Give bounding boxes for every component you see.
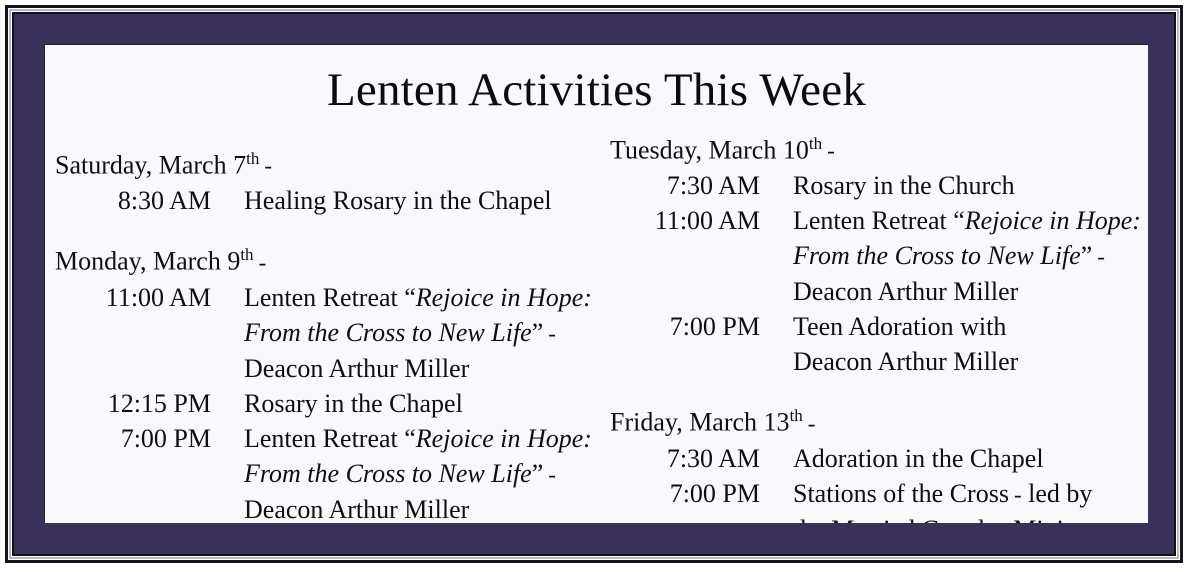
event-text: Deacon Arthur Miller — [793, 277, 1018, 306]
event-description-line: Deacon Arthur Miller — [244, 492, 592, 523]
event-text: ” — [532, 459, 544, 488]
event-description-line: Rosary in the Chapel — [244, 386, 463, 421]
event-description-line: Stations of the Cross- led by — [793, 476, 1103, 512]
retreat-title-italic: Rejoice in Hope: — [416, 283, 592, 312]
schedule-event: 8:30 AMHealing Rosary in the Chapel — [53, 183, 613, 218]
day-heading: Friday, March 13th- — [608, 399, 1148, 440]
day-heading-date: Saturday, March 7 — [55, 150, 246, 179]
event-description: Lenten Retreat “Rejoice in Hope:From the… — [211, 280, 592, 386]
event-description-line: From the Cross to New Life”- — [793, 238, 1141, 274]
day-heading-ordinal: th — [790, 406, 803, 425]
day-heading-date: Monday, March 9 — [55, 247, 240, 276]
retreat-title-italic: From the Cross to New Life — [793, 241, 1081, 270]
event-time: 7:00 PM — [608, 476, 760, 511]
schedule-event: 7:00 PMLenten Retreat “Rejoice in Hope:F… — [53, 421, 613, 523]
schedule-column-right: Tuesday, March 10th-7:30 AMRosary in the… — [608, 127, 1148, 523]
event-description: Teen Adoration withDeacon Arthur Miller — [760, 309, 1018, 379]
event-description-line: the Married Couples Ministry — [793, 512, 1103, 523]
event-description: Rosary in the Church — [760, 168, 1015, 203]
event-time: 11:00 AM — [608, 203, 760, 238]
event-description-line: Deacon Arthur Miller — [793, 274, 1141, 309]
event-description-line: Lenten Retreat “Rejoice in Hope: — [244, 421, 592, 456]
day-heading-ordinal: th — [809, 134, 822, 153]
event-text: Lenten Retreat “ — [244, 424, 416, 453]
schedule-event: 7:30 AMAdoration in the Chapel — [608, 441, 1148, 476]
retreat-title-italic: Rejoice in Hope: — [416, 424, 592, 453]
event-description-line: Deacon Arthur Miller — [244, 351, 592, 386]
event-description-line: From the Cross to New Life”- — [244, 315, 592, 351]
event-text: the Married Couples Ministry — [793, 515, 1103, 523]
event-description-line: Lenten Retreat “Rejoice in Hope: — [244, 280, 592, 315]
event-description-line: Deacon Arthur Miller — [793, 344, 1018, 379]
event-text: Teen Adoration with — [793, 312, 1006, 341]
day-block: Saturday, March 7th-8:30 AMHealing Rosar… — [53, 142, 613, 218]
retreat-title-italic: Rejoice in Hope: — [965, 206, 1141, 235]
poster-content-panel: Lenten Activities This Week Saturday, Ma… — [45, 45, 1148, 523]
event-description-line: Adoration in the Chapel — [793, 441, 1044, 476]
day-block-spacer — [53, 220, 613, 238]
event-description-line: Rosary in the Church — [793, 168, 1015, 203]
event-dash: - — [543, 321, 556, 346]
day-block: Monday, March 9th-11:00 AMLenten Retreat… — [53, 238, 613, 523]
event-time: 8:30 AM — [53, 183, 211, 218]
day-heading: Saturday, March 7th- — [53, 142, 613, 183]
event-text: Deacon Arthur Miller — [244, 354, 469, 383]
event-description: Adoration in the Chapel — [760, 441, 1044, 476]
day-heading-dash: - — [822, 138, 835, 163]
event-description: Lenten Retreat “Rejoice in Hope:From the… — [760, 203, 1141, 309]
day-heading-dash: - — [803, 411, 816, 436]
event-time: 11:00 AM — [53, 280, 211, 315]
page-title: Lenten Activities This Week — [45, 67, 1148, 114]
day-block: Tuesday, March 10th-7:30 AMRosary in the… — [608, 127, 1148, 379]
day-heading-ordinal: th — [240, 245, 253, 264]
retreat-title-italic: From the Cross to New Life — [244, 459, 532, 488]
schedule-event: 12:15 PMRosary in the Chapel — [53, 386, 613, 421]
schedule-event: 7:30 AMRosary in the Church — [608, 168, 1148, 203]
event-description-line: Teen Adoration with — [793, 309, 1018, 344]
event-time: 7:00 PM — [53, 421, 211, 456]
day-heading-dash: - — [259, 153, 272, 178]
day-heading-ordinal: th — [246, 149, 259, 168]
day-block: Friday, March 13th-7:30 AMAdoration in t… — [608, 399, 1148, 523]
event-text: led by — [1022, 479, 1093, 508]
schedule-event: 11:00 AMLenten Retreat “Rejoice in Hope:… — [608, 203, 1148, 309]
schedule-event: 7:00 PMStations of the Cross- led bythe … — [608, 476, 1148, 523]
schedule-event: 7:00 PMTeen Adoration withDeacon Arthur … — [608, 309, 1148, 379]
event-time: 7:30 AM — [608, 441, 760, 476]
day-heading-dash: - — [254, 250, 267, 275]
event-text: Rosary in the Chapel — [244, 389, 463, 418]
event-description: Healing Rosary in the Chapel — [211, 183, 552, 218]
event-description-line: Lenten Retreat “Rejoice in Hope: — [793, 203, 1141, 238]
event-time: 7:30 AM — [608, 168, 760, 203]
day-heading: Tuesday, March 10th- — [608, 127, 1148, 168]
event-text: Deacon Arthur Miller — [793, 347, 1018, 376]
day-heading-date: Friday, March 13 — [610, 408, 790, 437]
event-text: Rosary in the Church — [793, 171, 1015, 200]
event-time: 7:00 PM — [608, 309, 760, 344]
event-time: 12:15 PM — [53, 386, 211, 421]
event-text: Lenten Retreat “ — [793, 206, 965, 235]
lenten-activities-poster: Lenten Activities This Week Saturday, Ma… — [0, 0, 1192, 572]
event-description-line: From the Cross to New Life”- — [244, 456, 592, 492]
day-heading-date: Tuesday, March 10 — [610, 135, 809, 164]
retreat-title-italic: From the Cross to New Life — [244, 318, 532, 347]
event-description-line: Healing Rosary in the Chapel — [244, 183, 552, 218]
event-description: Rosary in the Chapel — [211, 386, 463, 421]
event-text: Adoration in the Chapel — [793, 444, 1044, 473]
schedule-event: 11:00 AMLenten Retreat “Rejoice in Hope:… — [53, 280, 613, 386]
event-text: Stations of the Cross — [793, 479, 1009, 508]
event-description: Stations of the Cross- led bythe Married… — [760, 476, 1103, 523]
event-dash: - — [543, 462, 556, 487]
event-dash: - — [1092, 244, 1105, 269]
schedule-column-left: Saturday, March 7th-8:30 AMHealing Rosar… — [53, 142, 613, 523]
day-block-spacer — [608, 381, 1148, 399]
day-heading: Monday, March 9th- — [53, 238, 613, 279]
event-text: Lenten Retreat “ — [244, 283, 416, 312]
event-text: ” — [1081, 241, 1093, 270]
event-description: Lenten Retreat “Rejoice in Hope:From the… — [211, 421, 592, 523]
event-dash: - — [1009, 482, 1022, 507]
event-text: Healing Rosary in the Chapel — [244, 186, 552, 215]
event-text: Deacon Arthur Miller — [244, 495, 469, 523]
event-text: ” — [532, 318, 544, 347]
